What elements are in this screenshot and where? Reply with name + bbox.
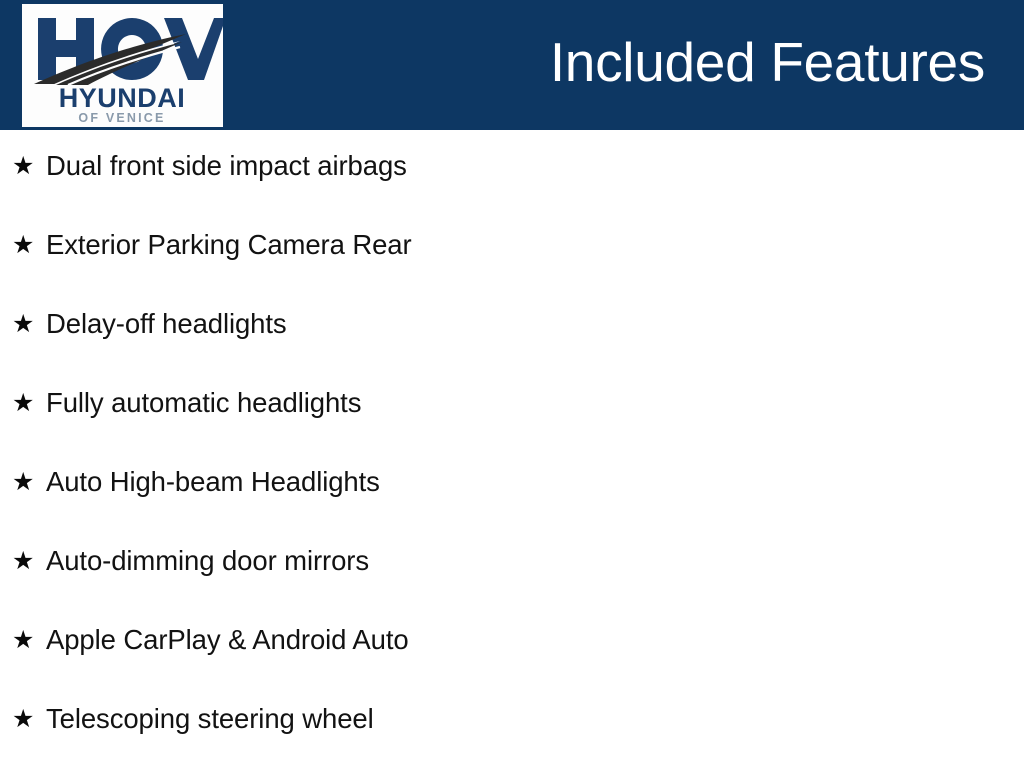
feature-label: Auto High-beam Headlights bbox=[46, 464, 380, 500]
list-item: ★ Dual front side impact airbags bbox=[12, 148, 407, 184]
list-item: ★ Apple CarPlay & Android Auto bbox=[12, 622, 409, 658]
list-item: ★ Telescoping steering wheel bbox=[12, 701, 374, 737]
feature-label: Apple CarPlay & Android Auto bbox=[46, 622, 409, 658]
svg-text:OF VENICE: OF VENICE bbox=[78, 111, 165, 125]
list-item: ★ Fully automatic headlights bbox=[12, 385, 361, 421]
star-bullet-icon: ★ bbox=[12, 148, 46, 184]
star-bullet-icon: ★ bbox=[12, 701, 46, 737]
list-item: ★ Auto-dimming door mirrors bbox=[12, 543, 369, 579]
star-bullet-icon: ★ bbox=[12, 622, 46, 658]
slide-header-bar: HYUNDAI OF VENICE Included Features bbox=[0, 0, 1024, 130]
star-bullet-icon: ★ bbox=[12, 306, 46, 342]
feature-label: Dual front side impact airbags bbox=[46, 148, 407, 184]
feature-label: Exterior Parking Camera Rear bbox=[46, 227, 412, 263]
svg-text:HYUNDAI: HYUNDAI bbox=[59, 83, 186, 113]
feature-label: Telescoping steering wheel bbox=[46, 701, 374, 737]
page-title: Included Features bbox=[550, 26, 985, 98]
feature-label: Delay-off headlights bbox=[46, 306, 287, 342]
star-bullet-icon: ★ bbox=[12, 464, 46, 500]
included-features-list: ★ Dual front side impact airbags ★ Exter… bbox=[0, 130, 1024, 768]
list-item: ★ Exterior Parking Camera Rear bbox=[12, 227, 412, 263]
feature-label: Auto-dimming door mirrors bbox=[46, 543, 369, 579]
list-item: ★ Auto High-beam Headlights bbox=[12, 464, 380, 500]
feature-label: Fully automatic headlights bbox=[46, 385, 361, 421]
list-item: ★ Delay-off headlights bbox=[12, 306, 287, 342]
star-bullet-icon: ★ bbox=[12, 227, 46, 263]
star-bullet-icon: ★ bbox=[12, 543, 46, 579]
dealer-logo: HYUNDAI OF VENICE bbox=[22, 4, 223, 127]
star-bullet-icon: ★ bbox=[12, 385, 46, 421]
